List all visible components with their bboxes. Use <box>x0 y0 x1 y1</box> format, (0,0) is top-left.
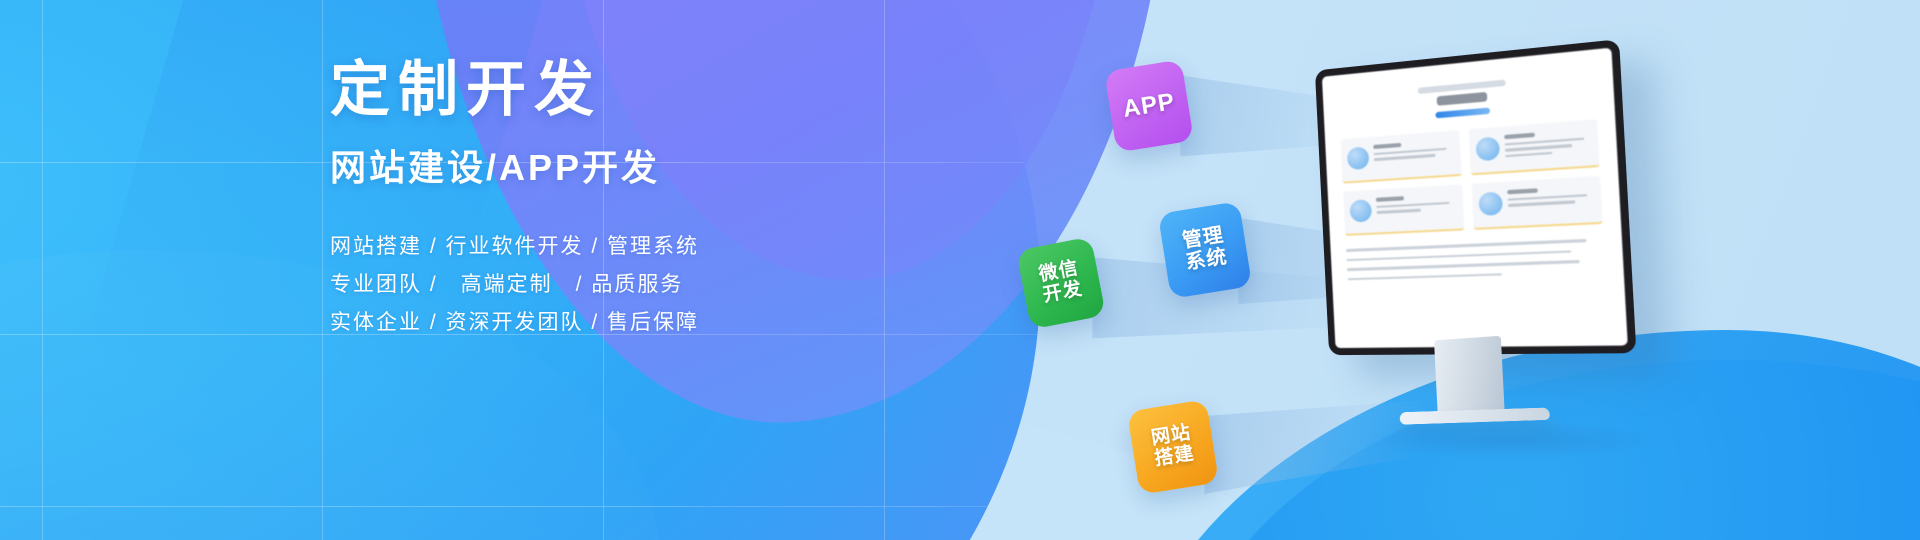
monitor-frame <box>1315 39 1637 355</box>
preview-heading-underline <box>1435 108 1490 119</box>
website-build-tag-card[interactable]: 网站 搭建 <box>1127 399 1219 494</box>
admin-system-tag-card[interactable]: 管理 系统 <box>1158 201 1252 299</box>
feature-line: 网站搭建 / 行业软件开发 / 管理系统 <box>330 228 950 266</box>
preview-card <box>1343 184 1464 236</box>
preview-card-icon <box>1478 192 1503 217</box>
monitor-base <box>1400 408 1551 425</box>
page-subtitle: 网站建设/APP开发 <box>330 150 950 186</box>
website-card-label-line2: 搭建 <box>1153 444 1196 471</box>
preview-card-icon <box>1349 199 1372 222</box>
desktop-monitor <box>1322 70 1622 470</box>
preview-card-text <box>1376 191 1457 225</box>
page-title: 定制开发 <box>330 60 950 120</box>
preview-eyebrow <box>1418 80 1506 94</box>
monitor-stand <box>1434 336 1505 418</box>
preview-card <box>1341 130 1462 184</box>
banner-copy-block: 定制开发 网站建设/APP开发 网站搭建 / 行业软件开发 / 管理系统 专业团… <box>330 60 950 342</box>
app-card-label: APP <box>1121 89 1177 123</box>
app-tag-card[interactable]: APP <box>1104 59 1194 152</box>
preview-heading <box>1437 92 1488 106</box>
wechat-dev-tag-card[interactable]: 微信 开发 <box>1016 236 1106 329</box>
preview-page <box>1322 48 1624 281</box>
preview-card-text <box>1504 126 1593 163</box>
preview-card-grid <box>1341 119 1603 236</box>
feature-line: 实体企业 / 资深开发团队 / 售后保障 <box>330 304 950 342</box>
website-preview <box>1322 48 1628 348</box>
feature-list: 网站搭建 / 行业软件开发 / 管理系统 专业团队 / 高端定制 / 品质服务 … <box>330 228 950 342</box>
feature-line: 专业团队 / 高端定制 / 品质服务 <box>330 266 950 304</box>
admin-card-label-line2: 系统 <box>1184 247 1229 275</box>
promo-banner: 定制开发 网站建设/APP开发 网站搭建 / 行业软件开发 / 管理系统 专业团… <box>0 0 1920 540</box>
preview-card-text <box>1373 137 1454 173</box>
preview-card <box>1468 119 1599 175</box>
preview-card-icon <box>1347 146 1370 170</box>
preview-card-icon <box>1475 137 1500 162</box>
preview-card-text <box>1506 183 1595 219</box>
preview-paragraph <box>1346 238 1605 280</box>
preview-card <box>1471 176 1603 230</box>
